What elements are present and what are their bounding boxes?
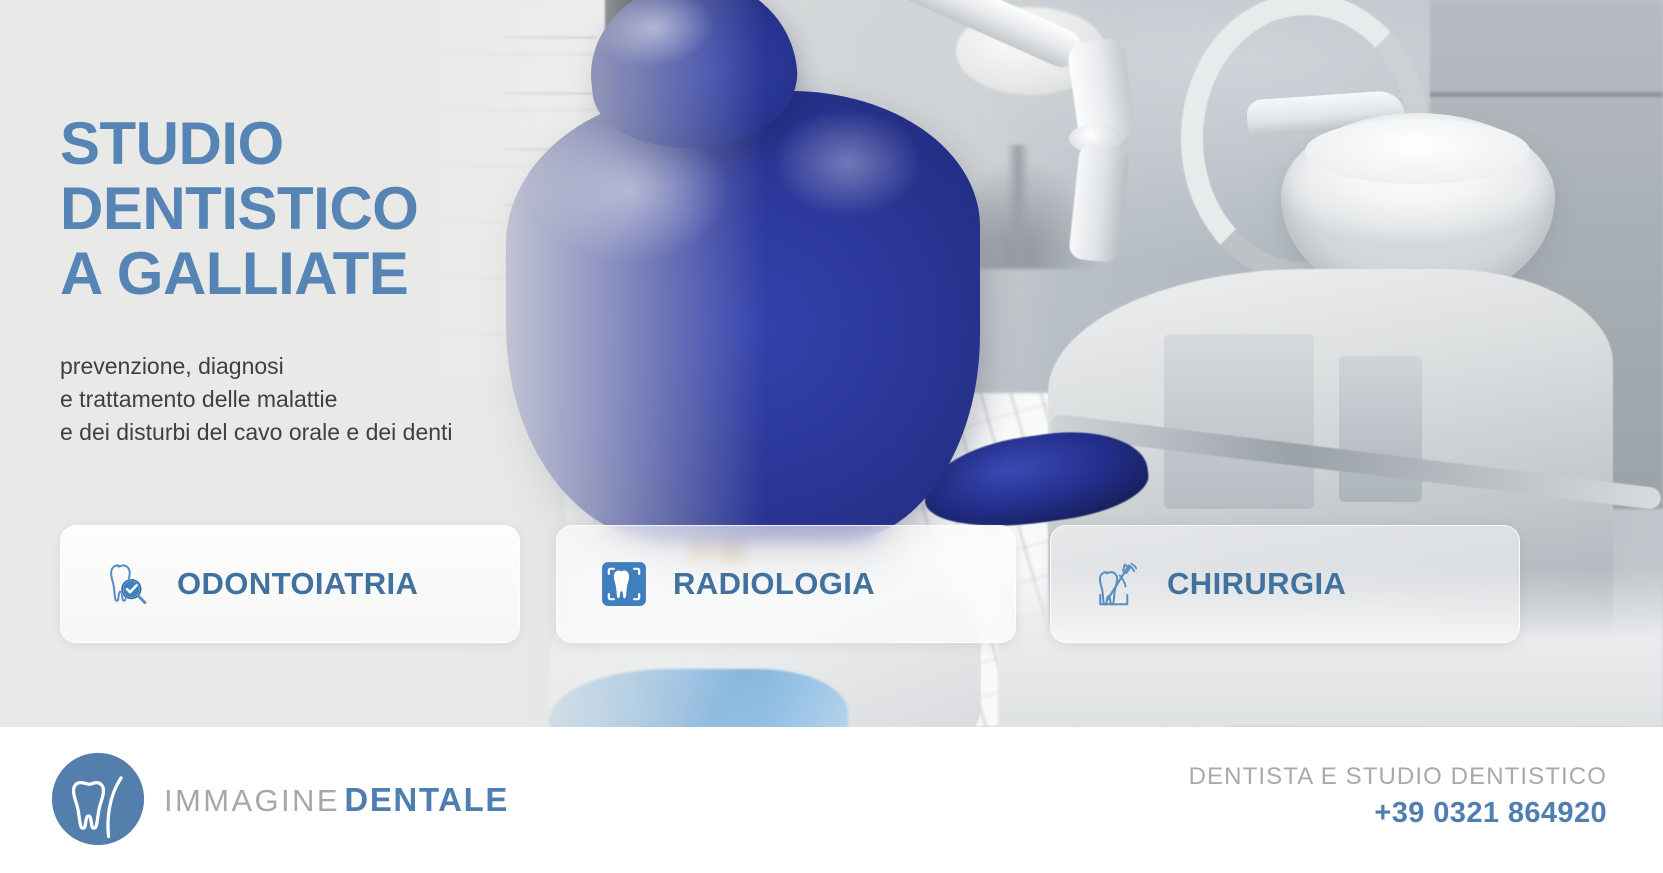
headline-line-3: A GALLIATE bbox=[60, 242, 700, 307]
service-card-label: ODONTOIATRIA bbox=[177, 566, 418, 602]
footer-bar: IMMAGINE DENTALE DENTISTA E STUDIO DENTI… bbox=[0, 727, 1663, 873]
brand-wordmark: IMMAGINE DENTALE bbox=[164, 783, 509, 816]
dental-clinic-banner: STUDIO DENTISTICO A GALLIATE prevenzione… bbox=[0, 0, 1663, 873]
service-card-radiologia[interactable]: RADIOLOGIA bbox=[556, 525, 1016, 643]
contact-caption: DENTISTA E STUDIO DENTISTICO bbox=[1189, 763, 1607, 791]
photo-unit-panel-left bbox=[1164, 334, 1314, 508]
headline-line-1: STUDIO bbox=[60, 112, 700, 177]
subtitle-line-3: e dei disturbi del cavo orale e dei dent… bbox=[60, 416, 700, 449]
photo-cuspidor-bowl-inner bbox=[1305, 119, 1530, 184]
page-title: STUDIO DENTISTICO A GALLIATE bbox=[60, 112, 700, 306]
tooth-scalpel-forceps-icon bbox=[1091, 557, 1145, 611]
service-card-row: ODONTOIATRIA RADIOLOGIA bbox=[0, 525, 1663, 643]
service-card-label: CHIRURGIA bbox=[1167, 566, 1346, 602]
subtitle-line-2: e trattamento delle malattie bbox=[60, 383, 700, 416]
hero-section: STUDIO DENTISTICO A GALLIATE prevenzione… bbox=[0, 0, 1663, 727]
phone-number[interactable]: +39 0321 864920 bbox=[1189, 797, 1607, 830]
tooth-magnifier-check-icon bbox=[101, 557, 155, 611]
brand-logo[interactable]: IMMAGINE DENTALE bbox=[50, 751, 509, 847]
photo-unit-panel-right bbox=[1339, 356, 1422, 501]
service-card-label: RADIOLOGIA bbox=[673, 566, 875, 602]
hero-subtitle: prevenzione, diagnosi e trattamento dell… bbox=[60, 350, 700, 448]
brand-name-bottom: DENTALE bbox=[344, 781, 509, 818]
contact-block: DENTISTA E STUDIO DENTISTICO +39 0321 86… bbox=[1189, 763, 1607, 830]
tooth-circle-logo-icon bbox=[50, 751, 146, 847]
tooth-xray-frame-icon bbox=[597, 557, 651, 611]
subtitle-line-1: prevenzione, diagnosi bbox=[60, 350, 700, 383]
headline-line-2: DENTISTICO bbox=[60, 177, 700, 242]
service-card-chirurgia[interactable]: CHIRURGIA bbox=[1050, 525, 1520, 643]
brand-name-top: IMMAGINE bbox=[164, 783, 340, 818]
service-card-odontoiatria[interactable]: ODONTOIATRIA bbox=[60, 525, 520, 643]
hero-copy: STUDIO DENTISTICO A GALLIATE prevenzione… bbox=[60, 112, 700, 448]
